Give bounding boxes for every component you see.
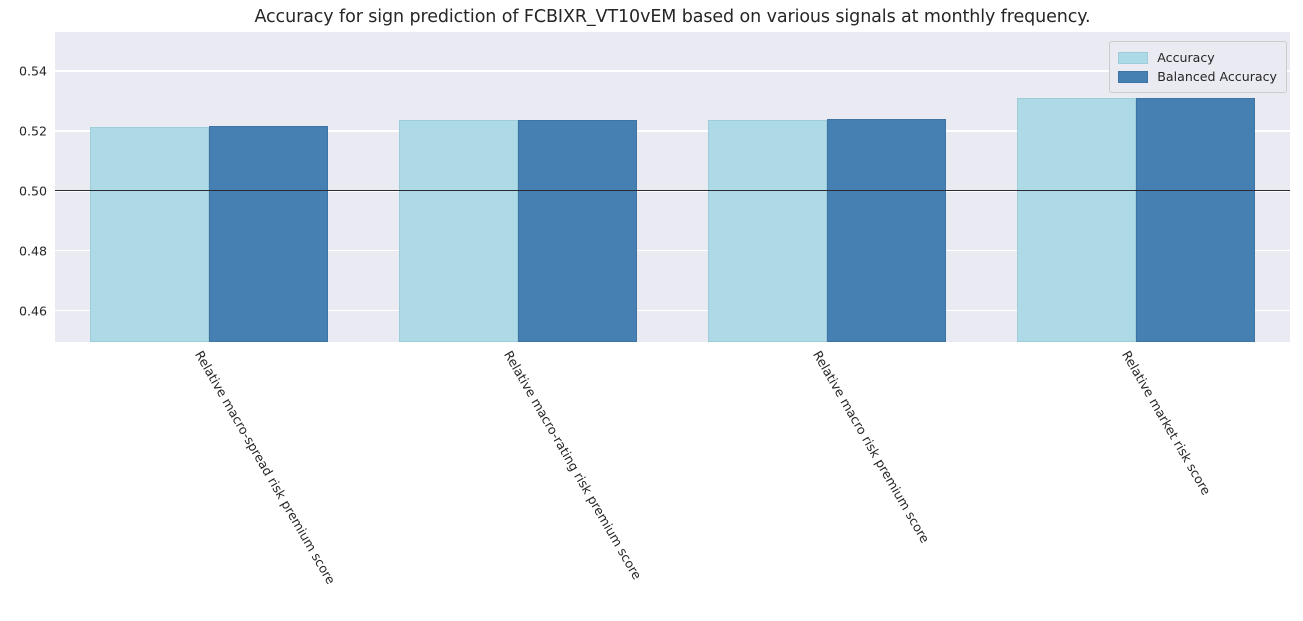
bar-balanced-accuracy[interactable] — [209, 126, 328, 342]
bar-accuracy[interactable] — [399, 120, 518, 342]
y-tick-label: 0.50 — [3, 183, 47, 198]
y-axis: 0.460.480.500.520.54 — [0, 32, 55, 342]
chart-title: Accuracy for sign prediction of FCBIXR_V… — [55, 7, 1290, 27]
bar-balanced-accuracy[interactable] — [518, 120, 637, 342]
legend-item-accuracy[interactable]: Accuracy — [1118, 48, 1277, 67]
plot-area — [55, 32, 1290, 342]
x-tick-label: Relative macro-rating risk premium score — [501, 348, 645, 582]
bar-accuracy[interactable] — [90, 127, 209, 342]
x-axis: Relative macro-spread risk premium score… — [55, 342, 1290, 621]
bar-balanced-accuracy[interactable] — [827, 119, 946, 342]
legend-label-accuracy: Accuracy — [1157, 50, 1215, 65]
x-tick-label: Relative macro-spread risk premium score — [192, 348, 339, 587]
y-tick-label: 0.54 — [3, 63, 47, 78]
bar-accuracy[interactable] — [708, 120, 827, 342]
legend-swatch-balanced-accuracy — [1118, 71, 1148, 83]
y-tick-label: 0.48 — [3, 243, 47, 258]
x-tick-label: Relative macro risk premium score — [810, 348, 933, 545]
reference-line — [55, 190, 1290, 191]
y-tick-label: 0.52 — [3, 123, 47, 138]
bar-accuracy[interactable] — [1017, 98, 1136, 342]
gridline — [55, 70, 1290, 72]
legend-label-balanced-accuracy: Balanced Accuracy — [1157, 69, 1277, 84]
chart-legend: Accuracy Balanced Accuracy — [1109, 41, 1287, 93]
legend-item-balanced-accuracy[interactable]: Balanced Accuracy — [1118, 67, 1277, 86]
x-tick-label: Relative market risk score — [1119, 348, 1214, 497]
chart-figure: Accuracy for sign prediction of FCBIXR_V… — [0, 0, 1303, 621]
y-tick-label: 0.46 — [3, 303, 47, 318]
legend-swatch-accuracy — [1118, 52, 1148, 64]
bar-balanced-accuracy[interactable] — [1136, 98, 1255, 342]
